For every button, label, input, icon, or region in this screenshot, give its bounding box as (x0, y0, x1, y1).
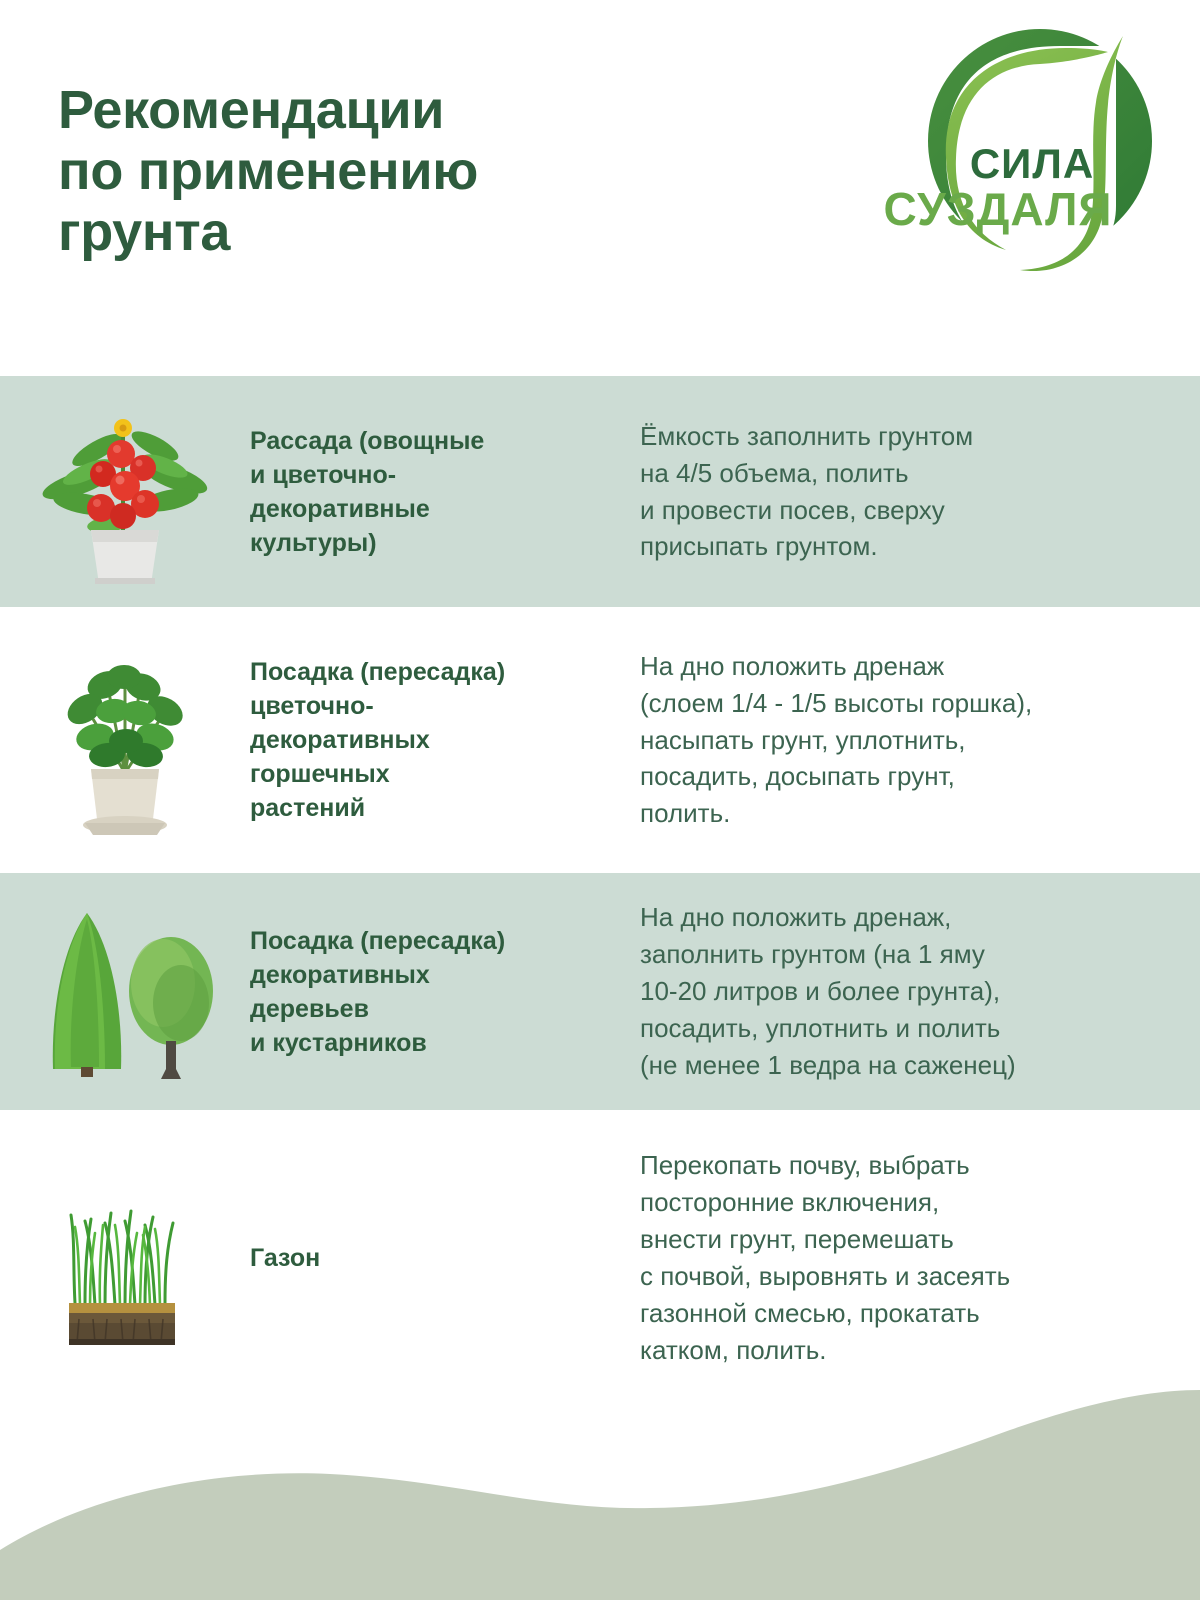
recommendations-table: Рассада (овощные и цветочно- декоративны… (0, 376, 1200, 1406)
row-title: Рассада (овощные и цветочно- декоративны… (250, 424, 640, 560)
logo-text-suzdalya: СУЗДАЛЯ (884, 183, 1113, 235)
row-image-lawn-turf-block (0, 1110, 250, 1406)
bottom-wave-decoration (0, 1390, 1200, 1600)
table-row: Посадка (пересадка) декоративных деревье… (0, 873, 1200, 1110)
deciduous-tree (129, 937, 213, 1079)
row-description: На дно положить дренаж, заполнить грунто… (640, 899, 1200, 1084)
table-row: Посадка (пересадка) цветочно- декоративн… (0, 607, 1200, 873)
row-description: На дно положить дренаж (слоем 1/4 - 1/5 … (640, 648, 1200, 833)
row-image-decorative-trees-and-shrubs (0, 873, 250, 1110)
row-title: Посадка (пересадка) цветочно- декоративн… (250, 655, 640, 825)
row-image-tomato-seedling-in-pot (0, 376, 250, 607)
page-title: Рекомендации по применению грунта (58, 80, 678, 263)
table-row: Газон Перекопать почву, выбрать посторон… (0, 1110, 1200, 1406)
sila-suzdalya-logo: СИЛА СУЗДАЛЯ (880, 18, 1180, 288)
page-header: Рекомендации по применению грунта С (0, 0, 1200, 376)
table-row: Рассада (овощные и цветочно- декоративны… (0, 376, 1200, 607)
row-description: Перекопать почву, выбрать посторонние вк… (640, 1147, 1200, 1368)
row-title: Посадка (пересадка) декоративных деревье… (250, 924, 640, 1060)
flower (114, 419, 132, 437)
row-image-potted-houseplant (0, 607, 250, 873)
logo-text-sila: СИЛА (970, 140, 1094, 187)
row-title: Газон (250, 1241, 640, 1275)
row-description: Ёмкость заполнить грунтом на 4/5 объема,… (640, 418, 1200, 566)
conifer-tree (53, 913, 121, 1077)
